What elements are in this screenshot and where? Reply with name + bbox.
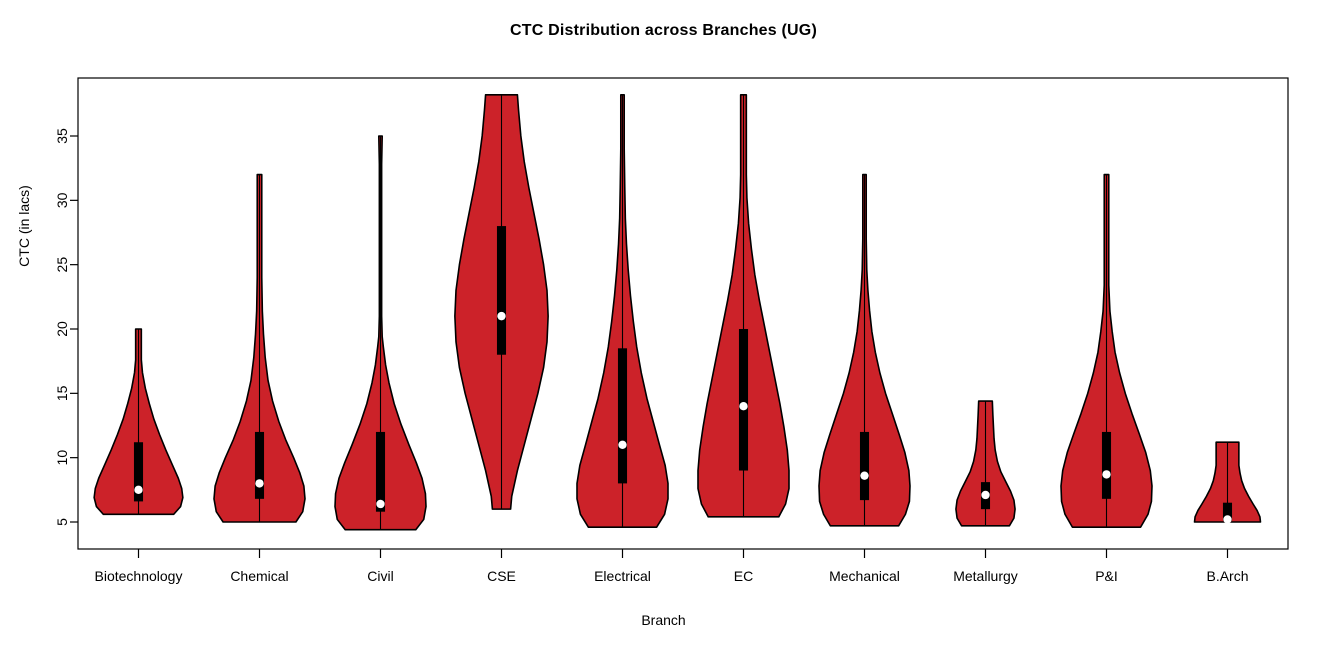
violin-p-i: [1061, 175, 1152, 528]
y-tick-label: 10: [54, 450, 70, 466]
violin-electrical: [577, 95, 668, 527]
x-tick-label: EC: [734, 568, 753, 584]
violin-metallurgy: [956, 401, 1015, 526]
x-axis: BiotechnologyChemicalCivilCSEElectricalE…: [95, 549, 1249, 584]
y-tick-label: 5: [54, 518, 70, 526]
violin-chemical: [214, 175, 305, 522]
median-point: [255, 479, 263, 487]
iqr-box: [376, 432, 385, 512]
x-tick-label: Metallurgy: [953, 568, 1018, 584]
median-point: [134, 486, 142, 494]
x-tick-label: B.Arch: [1206, 568, 1248, 584]
y-tick-label: 15: [54, 385, 70, 401]
iqr-box: [860, 432, 869, 500]
violin-mechanical: [819, 175, 910, 526]
iqr-box: [618, 348, 627, 483]
x-tick-label: Biotechnology: [95, 568, 183, 584]
median-point: [1102, 470, 1110, 478]
y-tick-label: 30: [54, 192, 70, 208]
median-point: [618, 441, 626, 449]
violin-civil: [335, 136, 426, 530]
x-tick-label: Civil: [367, 568, 393, 584]
violin-b-arch: [1195, 442, 1261, 523]
violin-biotechnology: [94, 329, 183, 514]
plot-canvas: 5101520253035 BiotechnologyChemicalCivil…: [0, 0, 1327, 653]
median-point: [739, 402, 747, 410]
y-tick-label: 35: [54, 128, 70, 144]
x-tick-label: Mechanical: [829, 568, 900, 584]
median-point: [1223, 515, 1231, 523]
violin-ec: [698, 95, 789, 517]
x-tick-label: Chemical: [230, 568, 288, 584]
y-axis: 5101520253035: [54, 128, 78, 526]
y-tick-label: 20: [54, 321, 70, 337]
iqr-box: [255, 432, 264, 499]
x-tick-label: CSE: [487, 568, 516, 584]
median-point: [860, 471, 868, 479]
violin-plot-figure: CTC Distribution across Branches (UG) CT…: [0, 0, 1327, 653]
iqr-box: [1102, 432, 1111, 499]
violin-cse: [455, 95, 548, 509]
x-tick-label: P&I: [1095, 568, 1118, 584]
iqr-box: [497, 226, 506, 355]
violin-series-group: [94, 95, 1260, 530]
iqr-box: [739, 329, 748, 471]
median-point: [981, 491, 989, 499]
y-tick-label: 25: [54, 257, 70, 273]
median-point: [497, 312, 505, 320]
median-point: [376, 500, 384, 508]
x-tick-label: Electrical: [594, 568, 651, 584]
